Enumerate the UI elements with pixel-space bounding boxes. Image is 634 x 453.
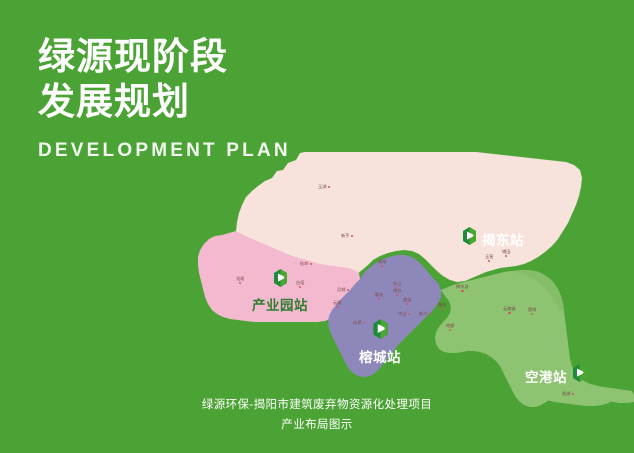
station-marker-konggang[interactable]: 空港站 <box>525 363 588 388</box>
poster-canvas: 玉湖新亨锡场龙尾桂岭白塔月城云路磐东炮台东山曲溪中山新兴仙桥榕东揭东县云路镇登岗… <box>0 0 634 453</box>
city-dot-icon <box>531 313 534 316</box>
city-label: 锡场 <box>378 260 386 264</box>
station-marker-chanyeyuan[interactable]: 产业园站 <box>252 268 308 314</box>
city-dot-icon <box>310 263 313 266</box>
city-marker: 月城 <box>337 288 349 292</box>
city-label: 登岗 <box>528 308 536 312</box>
city-label: 曲溪 <box>403 298 411 302</box>
city-dot-icon <box>381 265 384 268</box>
city-label: 新兴 <box>419 312 427 316</box>
city-dot-icon <box>239 282 242 285</box>
station-marker-rongcheng[interactable]: 榕城站 <box>359 318 401 366</box>
city-dot-icon <box>347 289 350 292</box>
city-marker: 龙尾 <box>236 277 244 284</box>
station-label-rongcheng: 榕城站 <box>359 346 401 366</box>
green-logo-icon <box>571 363 588 388</box>
page-title-line2: 发展规划 <box>38 79 291 124</box>
green-logo-icon <box>371 318 390 345</box>
city-marker: 云路镇 <box>503 307 516 314</box>
city-marker: 锡场 <box>378 260 386 267</box>
city-label: 地都 <box>446 324 454 328</box>
city-label: 榕东 <box>438 303 446 307</box>
city-marker: 中山 <box>398 312 410 316</box>
city-dot-icon <box>351 235 354 238</box>
city-label: 玉湖 <box>318 185 326 189</box>
city-marker: 登岗 <box>528 308 536 315</box>
city-dot-icon <box>328 186 331 189</box>
city-marker: 地都 <box>446 324 454 331</box>
city-marker: 新亨 <box>341 234 353 238</box>
station-marker-jiedong[interactable]: 揭东站 <box>461 226 524 251</box>
title-block: 绿源现阶段 发展规划 DEVELOPMENT PLAN <box>38 34 291 162</box>
city-label: 月城 <box>337 288 345 292</box>
station-label-konggang: 空港站 <box>525 366 567 386</box>
city-label: 桂岭 <box>300 262 308 266</box>
city-marker: 云路 <box>333 301 341 308</box>
city-label: 中山 <box>398 312 406 316</box>
city-dot-icon <box>488 260 491 263</box>
city-dot-icon <box>449 329 452 332</box>
city-dot-icon <box>441 308 444 311</box>
city-label: 炮台 <box>393 289 401 293</box>
city-label: 云路镇 <box>503 307 516 311</box>
city-marker: 新兴 <box>419 312 431 316</box>
caption-block: 绿源环保-揭阳市建筑废弃物资源化处理项目 产业布局图示 <box>0 395 634 435</box>
city-label: 新亨 <box>341 234 349 238</box>
city-dot-icon <box>408 313 411 316</box>
city-marker: 东山 <box>393 282 401 289</box>
page-title-line1: 绿源现阶段 <box>38 34 291 79</box>
city-marker: 桂岭 <box>300 262 312 266</box>
city-marker: 揭东县 <box>456 285 469 292</box>
city-label: 磐东 <box>375 293 383 297</box>
city-marker: 玉湖 <box>318 185 330 189</box>
city-label: 云路 <box>333 301 341 305</box>
station-label-chanyeyuan: 产业园站 <box>252 294 308 314</box>
city-label: 龙尾 <box>236 277 244 281</box>
city-dot-icon <box>461 290 464 293</box>
city-marker: 炮台 <box>393 289 401 296</box>
city-dot-icon <box>508 312 511 315</box>
city-dot-icon <box>429 313 432 316</box>
city-dot-icon <box>336 306 339 309</box>
city-dot-icon <box>378 298 381 301</box>
caption-line2: 产业布局图示 <box>0 415 634 435</box>
city-marker: 磐东 <box>375 293 383 300</box>
green-logo-icon <box>272 268 289 293</box>
city-label: 揭东县 <box>456 285 469 289</box>
city-label: 东山 <box>393 282 401 286</box>
caption-line1: 绿源环保-揭阳市建筑废弃物资源化处理项目 <box>0 395 634 415</box>
city-label: 玉窖 <box>485 255 493 259</box>
city-marker: 曲溪 <box>403 298 411 305</box>
city-dot-icon <box>406 303 409 306</box>
city-dot-icon <box>396 294 399 297</box>
page-subtitle: DEVELOPMENT PLAN <box>38 140 291 162</box>
green-logo-icon <box>461 226 478 251</box>
city-marker: 埔田 <box>502 250 510 257</box>
city-marker: 榕东 <box>438 303 446 310</box>
station-label-jiedong: 揭东站 <box>482 229 524 249</box>
city-dot-icon <box>396 287 399 290</box>
city-dot-icon <box>505 255 508 258</box>
city-marker: 玉窖 <box>485 255 493 262</box>
